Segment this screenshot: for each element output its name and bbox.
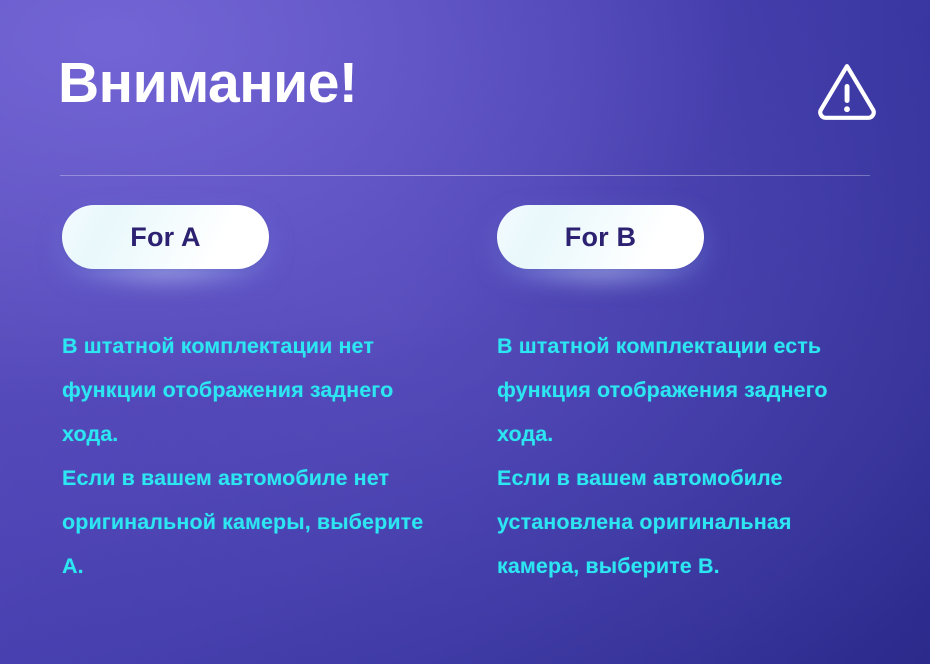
- pill-wrapper-for-b: For B: [497, 205, 704, 269]
- warning-slide: Внимание! For A В штатной комплектации н…: [0, 0, 930, 664]
- header-divider: [60, 175, 870, 176]
- option-pill-label-for-a: For A: [130, 224, 201, 251]
- option-column-for-b: For B В штатной комплектации есть функци…: [435, 205, 870, 588]
- options-container: For A В штатной комплектации нет функции…: [0, 205, 930, 588]
- option-pill-label-for-b: For B: [565, 224, 637, 251]
- header: Внимание!: [0, 0, 930, 176]
- option-a-paragraph-1: В штатной комплектации нет функции отобр…: [62, 324, 430, 456]
- pill-wrapper-for-a: For A: [62, 205, 269, 269]
- option-b-paragraph-2: Если в вашем автомобиле установлена ориг…: [497, 456, 865, 588]
- option-a-paragraph-2: Если в вашем автомобиле нет оригинальной…: [62, 456, 430, 588]
- option-b-paragraph-1: В штатной комплектации есть функция отоб…: [497, 324, 865, 456]
- page-title: Внимание!: [58, 55, 357, 112]
- option-pill-for-b[interactable]: For B: [497, 205, 704, 269]
- option-pill-for-a[interactable]: For A: [62, 205, 269, 269]
- warning-triangle-icon: [816, 64, 878, 122]
- option-column-for-a: For A В штатной комплектации нет функции…: [0, 205, 435, 588]
